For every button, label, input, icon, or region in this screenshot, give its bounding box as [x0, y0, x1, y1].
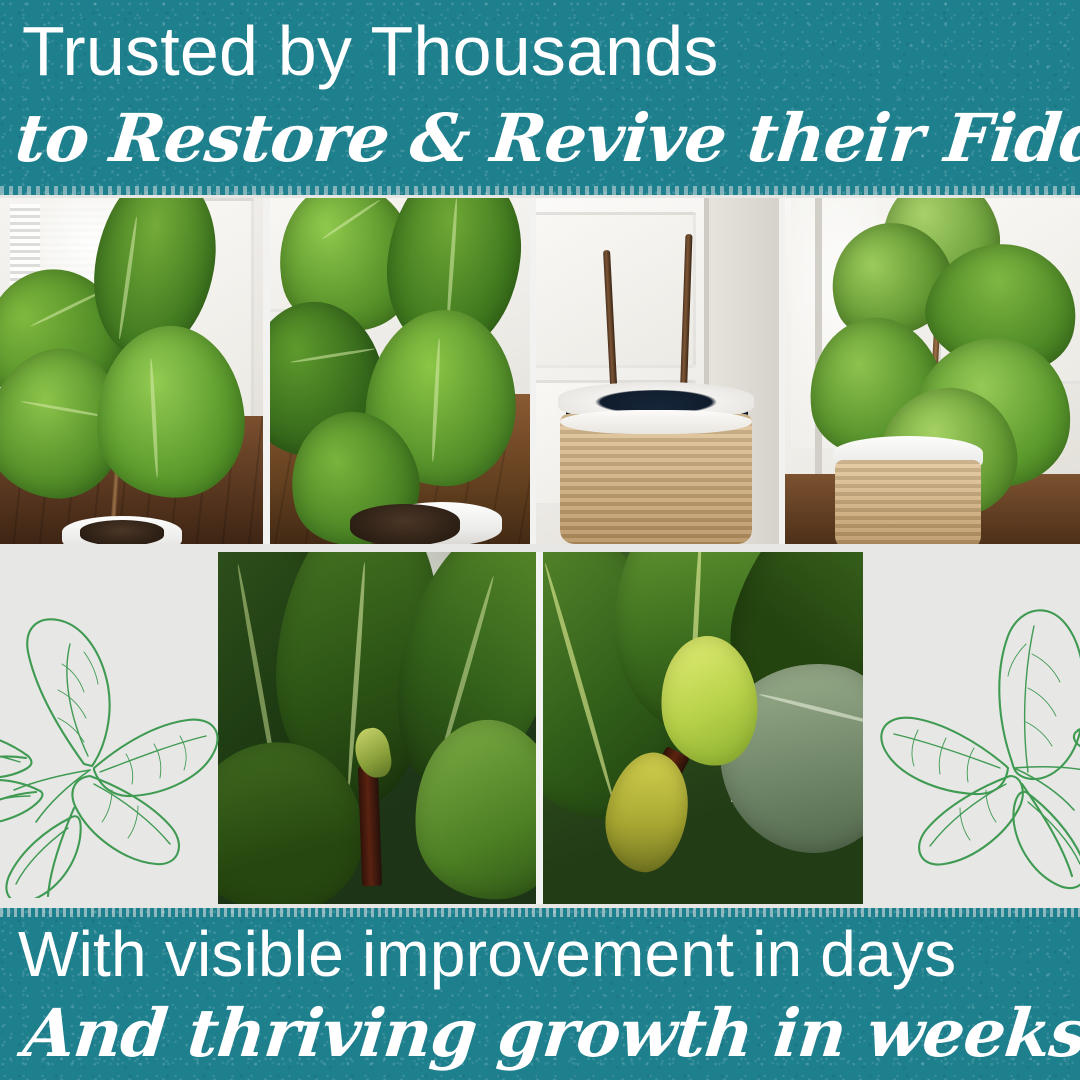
banner-ragged-edge [0, 186, 1080, 195]
photo-grid-row-1 [0, 198, 1080, 544]
bottom-headline-line-1: With visible improvement in days [18, 922, 956, 986]
bottom-headline-banner: With visible improvement in days And thr… [0, 908, 1080, 1080]
photo-fiddle-leaf-fig-by-window [0, 198, 263, 544]
fiddle-leaf-line-drawing-left [0, 578, 226, 898]
photo-new-growth-bud-closeup [218, 552, 536, 904]
top-headline-line-1: Trusted by Thousands [22, 16, 719, 86]
bottom-headline-line-2: And thriving growth in weeks [21, 1000, 1080, 1066]
photo-bare-fiddle-stems-in-basket [536, 198, 779, 544]
photo-fiddle-leaf-fig-overhead [270, 198, 530, 544]
photo-unfurling-new-leaf-closeup [543, 552, 863, 904]
top-headline-banner: Trusted by Thousands to Restore & Revive… [0, 0, 1080, 195]
poster-canvas: Trusted by Thousands to Restore & Revive… [0, 0, 1080, 1080]
top-headline-line-2: to Restore & Revive their Fiddles [13, 105, 1080, 171]
photo-recovered-fiddle-in-basket [785, 198, 1080, 544]
fiddle-leaf-line-drawing-right [856, 570, 1080, 900]
photo-grid-row-2 [218, 552, 863, 904]
banner-ragged-edge-top [0, 908, 1080, 917]
